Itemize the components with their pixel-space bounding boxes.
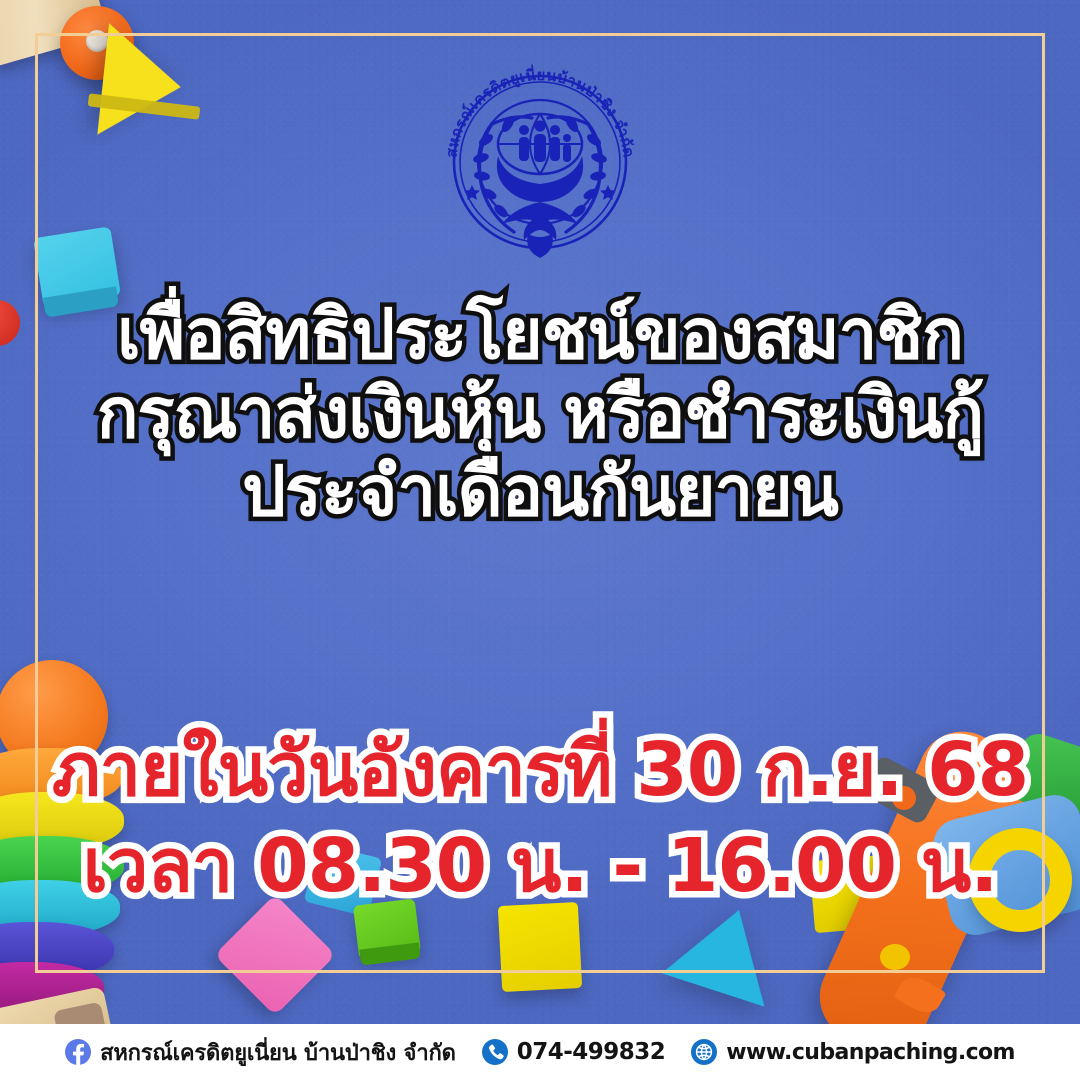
- phone-icon: [482, 1039, 508, 1065]
- deadline-time-line: เวลา 08.30 น. - 16.00 น.: [28, 818, 1052, 914]
- wooden-toy-car-hub: [86, 30, 108, 52]
- website-url: www.cubanpaching.com: [726, 1040, 1015, 1065]
- globe-icon: [691, 1039, 717, 1065]
- footer-phone[interactable]: 074-499832: [482, 1039, 666, 1065]
- headline-block: เพื่อสิทธิประโยชน์ของสมาชิก กรุณาส่งเงิน…: [0, 296, 1080, 532]
- announcement-poster: สหกรณ์เครดิตยูเนี่ยนบ้านป่าชิง จำกัด: [0, 0, 1080, 1080]
- footer-website[interactable]: www.cubanpaching.com: [691, 1039, 1015, 1065]
- deadline-block: ภายในวันอังคารที่ 30 ก.ย. 68 เวลา 08.30 …: [0, 722, 1080, 914]
- phone-number: 074-499832: [517, 1039, 666, 1065]
- footer-contact-bar: สหกรณ์เครดิตยูเนี่ยน บ้านป่าชิง จำกัด 07…: [0, 1024, 1080, 1080]
- headline-line-2: กรุณาส่งเงินหุ้น หรือชำระเงินกู้: [58, 375, 1022, 454]
- headline-line-1: เพื่อสิทธิประโยชน์ของสมาชิก: [58, 296, 1022, 375]
- deadline-date-line: ภายในวันอังคารที่ 30 ก.ย. 68: [28, 722, 1052, 818]
- yellow-cube-block: [498, 902, 582, 992]
- logo-container: สหกรณ์เครดิตยูเนี่ยนบ้านป่าชิง จำกัด: [0, 52, 1080, 268]
- cooperative-seal-logo: สหกรณ์เครดิตยูเนี่ยนบ้านป่าชิง จำกัด: [432, 52, 648, 268]
- footer-facebook[interactable]: สหกรณ์เครดิตยูเนี่ยน บ้านป่าชิง จำกัด: [65, 1035, 456, 1070]
- facebook-page-name: สหกรณ์เครดิตยูเนี่ยน บ้านป่าชิง จำกัด: [100, 1035, 456, 1070]
- facebook-icon: [65, 1039, 91, 1065]
- headline-line-3: ประจำเดือนกันยายน: [58, 453, 1022, 532]
- toy-airplane-yellow-dot: [880, 944, 910, 970]
